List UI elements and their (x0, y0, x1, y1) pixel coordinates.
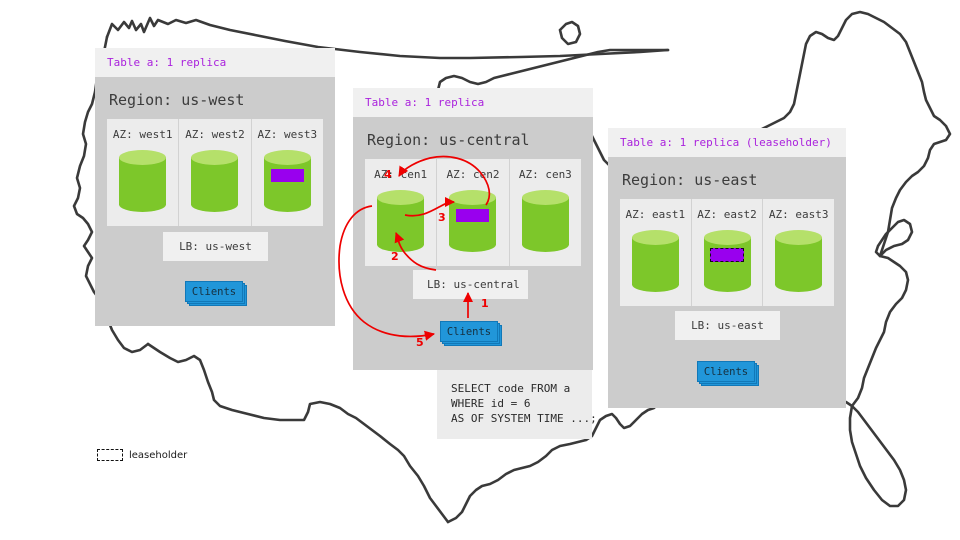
cylinder-top (522, 190, 569, 205)
load-balancer-us-east[interactable]: LB: us-east (675, 311, 780, 340)
cylinder-cen2[interactable] (449, 190, 496, 252)
region-title-us-central: Region: us-central (353, 117, 593, 159)
clients-us-west[interactable]: Clients (185, 281, 247, 304)
region-header-us-central: Table a: 1 replica (353, 88, 593, 117)
az-cell-east3[interactable]: AZ: east3 (763, 199, 834, 306)
region-title-us-east: Region: us-east (608, 157, 846, 199)
flow-step-label-1: 1 (481, 297, 489, 310)
clients-label-us-central: Clients (440, 321, 498, 342)
replica-marker-west3[interactable] (271, 169, 304, 182)
clients-us-central[interactable]: Clients (440, 321, 502, 344)
cylinder-top (632, 230, 679, 245)
cylinder-west1[interactable] (119, 150, 166, 212)
az-cell-east2[interactable]: AZ: east2 (692, 199, 764, 306)
az-label-east3: AZ: east3 (769, 208, 829, 221)
cylinder-east3[interactable] (775, 230, 822, 292)
flow-step-label-4: 4 (384, 168, 392, 181)
az-label-west3: AZ: west3 (258, 128, 318, 141)
cylinder-top (704, 230, 751, 245)
az-cell-west3[interactable]: AZ: west3 (252, 119, 323, 226)
region-header-us-west: Table a: 1 replica (95, 48, 335, 77)
load-balancer-us-west[interactable]: LB: us-west (163, 232, 268, 261)
az-label-cen2: AZ: cen2 (447, 168, 500, 181)
az-label-west1: AZ: west1 (113, 128, 173, 141)
clients-label-us-east: Clients (697, 361, 755, 382)
flow-step-label-5: 5 (416, 336, 424, 349)
cylinder-top (264, 150, 311, 165)
az-label-cen1: AZ: cen1 (374, 168, 427, 181)
az-cell-cen1[interactable]: AZ: cen1 (365, 159, 437, 266)
sql-query-box: SELECT code FROM a WHERE id = 6 AS OF SY… (437, 370, 592, 439)
clients-us-east[interactable]: Clients (697, 361, 759, 384)
load-balancer-us-central[interactable]: LB: us-central (413, 270, 528, 299)
cylinder-west3[interactable] (264, 150, 311, 212)
az-cell-cen2[interactable]: AZ: cen2 (437, 159, 509, 266)
legend-label: leaseholder (129, 450, 187, 461)
cylinder-east2[interactable] (704, 230, 751, 292)
cylinder-top (775, 230, 822, 245)
az-row-us-east: AZ: east1 AZ: east2 AZ: east3 (620, 199, 834, 306)
cylinder-west2[interactable] (191, 150, 238, 212)
clients-label-us-west: Clients (185, 281, 243, 302)
dashed-rect-swatch (97, 449, 123, 461)
flow-step-label-3: 3 (438, 211, 446, 224)
az-cell-west1[interactable]: AZ: west1 (107, 119, 179, 226)
az-cell-cen3[interactable]: AZ: cen3 (510, 159, 581, 266)
az-label-east2: AZ: east2 (697, 208, 757, 221)
region-header-us-east: Table a: 1 replica (leaseholder) (608, 128, 846, 157)
cylinder-cen3[interactable] (522, 190, 569, 252)
az-label-cen3: AZ: cen3 (519, 168, 572, 181)
region-title-us-west: Region: us-west (95, 77, 335, 119)
cylinder-east1[interactable] (632, 230, 679, 292)
az-row-us-west: AZ: west1 AZ: west2 AZ: west3 (107, 119, 323, 226)
flow-step-label-2: 2 (391, 250, 399, 263)
az-label-east1: AZ: east1 (626, 208, 686, 221)
replica-marker-cen2[interactable] (456, 209, 489, 222)
cylinder-top (119, 150, 166, 165)
cylinder-cen1[interactable] (377, 190, 424, 252)
diagram-canvas: Table a: 1 replica Region: us-west AZ: w… (0, 0, 960, 540)
az-label-west2: AZ: west2 (185, 128, 245, 141)
replica-marker-east2-leaseholder[interactable] (710, 248, 744, 262)
az-cell-east1[interactable]: AZ: east1 (620, 199, 692, 306)
cylinder-top (377, 190, 424, 205)
legend-leaseholder: leaseholder (97, 449, 187, 461)
az-cell-west2[interactable]: AZ: west2 (179, 119, 251, 226)
